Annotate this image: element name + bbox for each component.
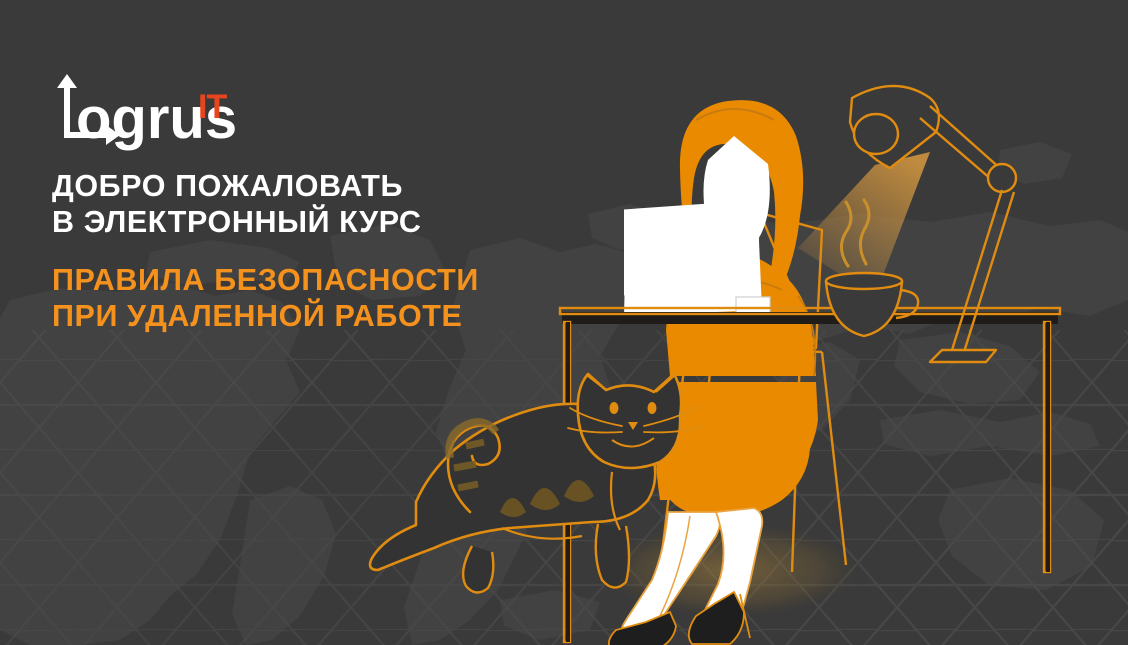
slide-canvas: ogrus IT ДОБРО ПОЖАЛОВАТЬ В ЭЛЕКТРОННЫЙ … [0,0,1128,645]
logrus-it-logo[interactable]: ogrus IT [50,74,270,146]
hips [660,418,810,517]
cat-eye-left [610,402,619,414]
laptop [624,200,770,316]
hero-illustration [330,60,1070,645]
logo-suffix: IT [198,88,227,126]
cat-eye-right [648,402,657,414]
